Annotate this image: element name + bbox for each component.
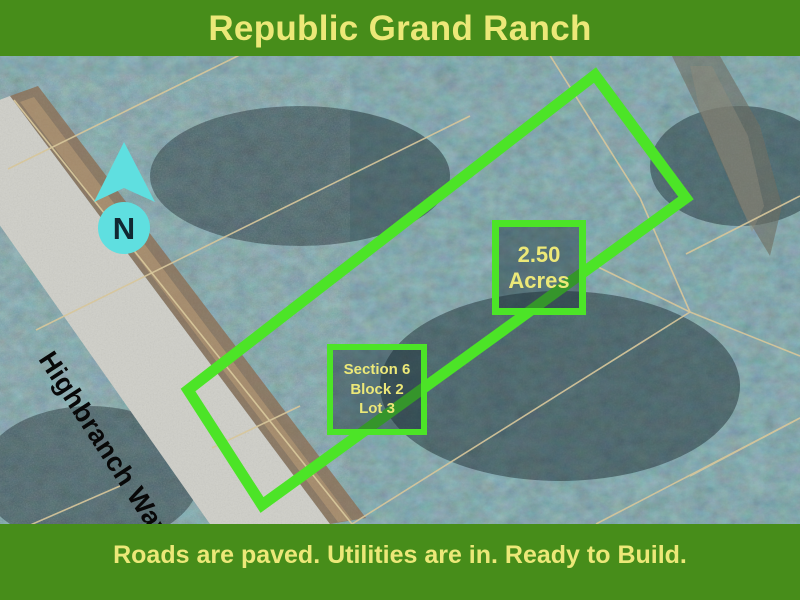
north-arrow-icon: N <box>93 140 157 256</box>
acreage-unit: Acres <box>508 268 569 294</box>
parcel-lot: Lot 3 <box>359 399 395 419</box>
page-title: Republic Grand Ranch <box>208 11 591 46</box>
header-banner: Republic Grand Ranch <box>0 0 800 56</box>
acreage-callout: 2.50 Acres <box>492 220 586 315</box>
parcel-block: Block 2 <box>350 380 403 400</box>
acreage-value: 2.50 <box>518 242 561 268</box>
parcel-section: Section 6 <box>344 360 411 380</box>
land-listing-card: N Highbranch Way 2.50 Acres Section 6 Bl… <box>0 0 800 600</box>
footer-banner: Roads are paved. Utilities are in. Ready… <box>0 524 800 600</box>
parcel-id-callout: Section 6 Block 2 Lot 3 <box>327 344 427 435</box>
compass-needle-icon <box>94 142 155 202</box>
compass-north-label: N <box>113 211 135 246</box>
footer-tagline: Roads are paved. Utilities are in. Ready… <box>113 543 687 568</box>
satellite-map[interactable]: N Highbranch Way 2.50 Acres Section 6 Bl… <box>0 56 800 524</box>
